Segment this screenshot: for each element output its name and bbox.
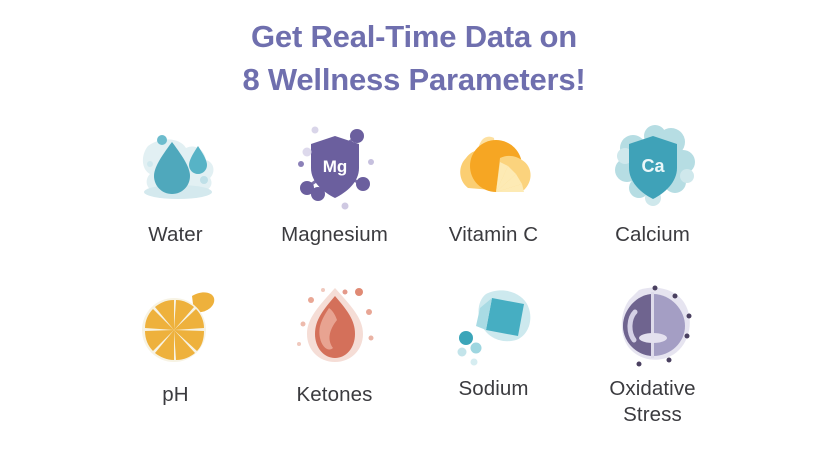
magnesium-molecule-shield-icon: Mg (285, 118, 385, 214)
parameter-label-oxidative-stress-line-2: Stress (623, 403, 682, 426)
parameter-label-oxidative-stress: Oxidative Stress (609, 376, 695, 428)
citrus-slice-icon (126, 278, 226, 374)
salt-shaker-icon (444, 278, 544, 374)
calcium-shield-icon: Ca (603, 118, 703, 214)
parameter-label-calcium: Calcium (615, 222, 690, 248)
parameter-label-sodium: Sodium (458, 376, 528, 402)
parameter-card-magnesium[interactable]: Mg Magnesium (255, 118, 414, 278)
parameter-label-magnesium: Magnesium (281, 222, 388, 248)
wellness-parameters-page: Get Real-Time Data on 8 Wellness Paramet… (0, 0, 828, 466)
magnesium-symbol-text: Mg (322, 157, 347, 176)
flame-icon (285, 278, 385, 374)
cell-oxidation-icon (603, 278, 703, 374)
parameter-label-ph: pH (162, 382, 188, 408)
parameter-card-ph[interactable]: pH (96, 278, 255, 438)
parameter-label-water: Water (148, 222, 202, 248)
water-droplet-icon (126, 118, 226, 214)
calcium-symbol-text: Ca (641, 156, 665, 176)
page-title: Get Real-Time Data on 8 Wellness Paramet… (0, 16, 828, 102)
parameter-card-ketones[interactable]: Ketones (255, 278, 414, 438)
page-title-line-1: Get Real-Time Data on (0, 16, 828, 59)
orange-citrus-icon (444, 118, 544, 214)
parameter-card-calcium[interactable]: Ca Calcium (573, 118, 732, 278)
parameter-card-vitamin-c[interactable]: Vitamin C (414, 118, 573, 278)
parameter-card-oxidative-stress[interactable]: Oxidative Stress (573, 278, 732, 438)
parameter-label-oxidative-stress-line-1: Oxidative (609, 377, 695, 400)
parameter-label-vitamin-c: Vitamin C (449, 222, 538, 248)
parameter-card-water[interactable]: Water (96, 118, 255, 278)
parameters-grid: Water Mg (96, 118, 732, 438)
page-title-line-2: 8 Wellness Parameters! (0, 59, 828, 102)
parameter-label-ketones: Ketones (297, 382, 373, 408)
parameter-card-sodium[interactable]: Sodium (414, 278, 573, 438)
